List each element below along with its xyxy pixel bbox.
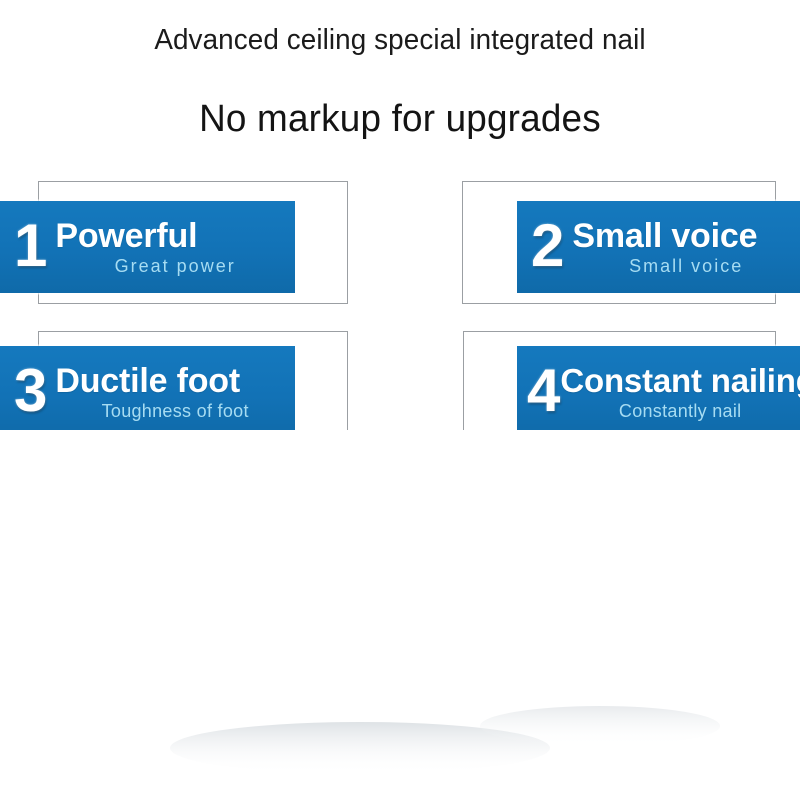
feature-text-group: Ductile foot Toughness of foot — [49, 363, 295, 422]
feature-bar: 1 Powerful Great power — [0, 201, 295, 293]
feature-number: 4 — [517, 361, 560, 421]
feature-card-1: 1 Powerful Great power — [0, 175, 360, 310]
feature-caption: Great power — [55, 255, 295, 277]
feature-caption: Constantly nail — [560, 400, 800, 422]
feature-title: Small voice — [572, 218, 800, 254]
feature-bar: 3 Ductile foot Toughness of foot — [0, 346, 295, 438]
feature-caption: Small voice — [572, 255, 800, 277]
feature-text-group: Constant nailing Constantly nail — [560, 363, 800, 422]
product-illustration — [0, 430, 800, 800]
page-title: Advanced ceiling special integrated nail — [16, 22, 784, 58]
feature-card-2: 2 Small voice Small voice — [440, 175, 800, 310]
feature-text-group: Small voice Small voice — [566, 218, 800, 277]
feature-number: 2 — [517, 216, 566, 276]
product-infographic-page: Advanced ceiling special integrated nail… — [0, 0, 800, 800]
page-subtitle: No markup for upgrades — [12, 96, 788, 142]
feature-bar: 2 Small voice Small voice — [517, 201, 800, 293]
feature-bar: 4 Constant nailing Constantly nail — [517, 346, 800, 438]
feature-text-group: Powerful Great power — [49, 218, 295, 277]
feature-title: Ductile foot — [55, 363, 295, 399]
ground-shadow-2 — [480, 706, 720, 746]
feature-title: Constant nailing — [560, 363, 800, 399]
feature-title: Powerful — [55, 218, 295, 254]
feature-number: 3 — [0, 361, 49, 421]
product-photo — [0, 430, 800, 800]
feature-caption: Toughness of foot — [55, 400, 295, 422]
feature-number: 1 — [0, 216, 49, 276]
